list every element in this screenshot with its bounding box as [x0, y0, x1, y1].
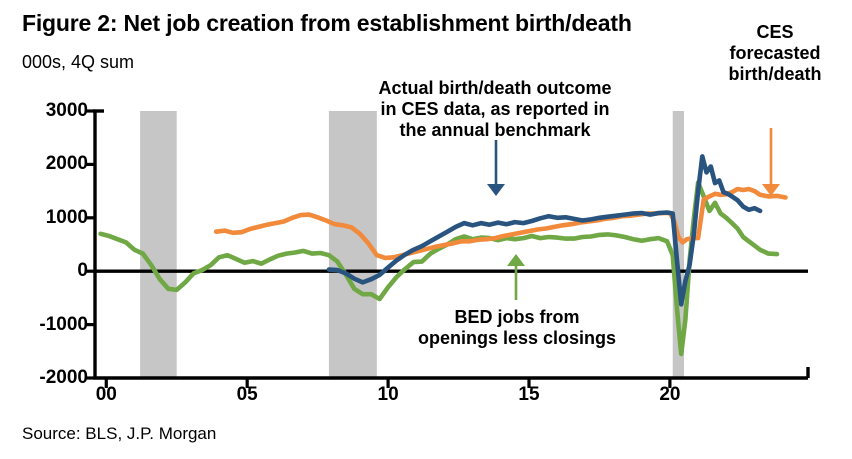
annotation-orange: CES forecasted birth/death [712, 22, 838, 85]
figure-container: Figure 2: Net job creation from establis… [0, 0, 852, 459]
annotation-navy: Actual birth/death outcome in CES data, … [363, 78, 627, 141]
recession-band-1 [140, 111, 177, 378]
arrow-navy [487, 140, 505, 196]
arrow-green [507, 254, 525, 300]
arrow-orange [762, 128, 780, 196]
annotation-green: BED jobs from openings less closings [398, 307, 636, 349]
